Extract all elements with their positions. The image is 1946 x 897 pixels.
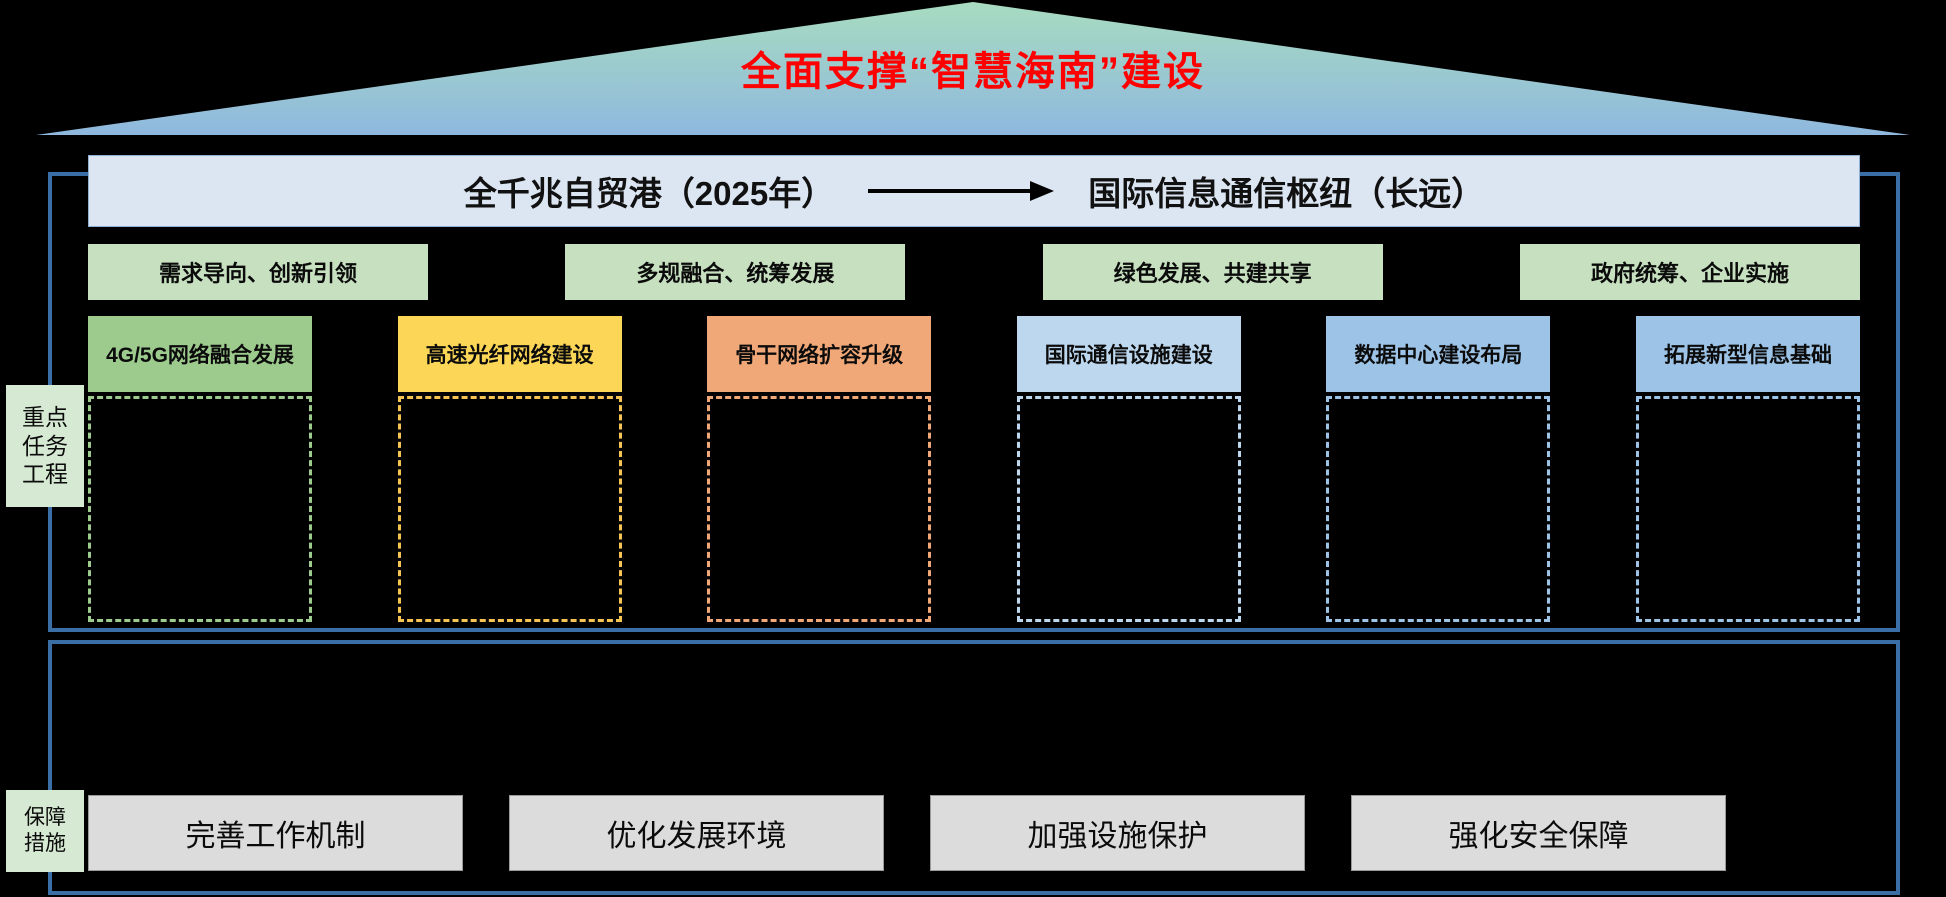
task-header-row: 4G/5G网络融合发展 高速光纤网络建设 骨干网络扩容升级 国际通信设施建设 数… bbox=[88, 316, 1860, 392]
roof-title: 全面支撑“智慧海南”建设 bbox=[0, 52, 1946, 92]
side-label-line: 保障 bbox=[24, 805, 66, 831]
principle-box: 多规融合、统筹发展 bbox=[565, 244, 905, 300]
side-label-line: 工程 bbox=[22, 460, 68, 489]
guarantee-box: 强化安全保障 bbox=[1351, 795, 1726, 871]
task-body-box bbox=[398, 396, 622, 622]
guarantee-box: 优化发展环境 bbox=[509, 795, 884, 871]
guarantee-row: 完善工作机制 优化发展环境 加强设施保护 强化安全保障 bbox=[88, 795, 1900, 871]
task-body-box bbox=[88, 396, 312, 622]
task-header-box: 高速光纤网络建设 bbox=[398, 316, 622, 392]
task-header-box: 国际通信设施建设 bbox=[1017, 316, 1241, 392]
principle-box: 绿色发展、共建共享 bbox=[1043, 244, 1383, 300]
task-body-box bbox=[1326, 396, 1550, 622]
side-label-guarantee: 保障 措施 bbox=[6, 790, 84, 872]
side-label-line: 措施 bbox=[24, 831, 66, 857]
task-header-box: 拓展新型信息基础 bbox=[1636, 316, 1860, 392]
side-label-line: 重点 bbox=[22, 403, 68, 432]
goal-bar: 全千兆自贸港（2025年） 国际信息通信枢纽（长远） bbox=[88, 155, 1860, 227]
long-right-arrow-icon bbox=[868, 180, 1054, 202]
task-body-box bbox=[1017, 396, 1241, 622]
guarantee-box: 加强设施保护 bbox=[930, 795, 1305, 871]
task-header-box: 4G/5G网络融合发展 bbox=[88, 316, 312, 392]
task-header-box: 骨干网络扩容升级 bbox=[707, 316, 931, 392]
side-label-line: 任务 bbox=[22, 432, 68, 461]
task-body-row bbox=[88, 396, 1860, 622]
principle-box: 需求导向、创新引领 bbox=[88, 244, 428, 300]
main-frame-top-right bbox=[1856, 172, 1900, 176]
task-body-box bbox=[707, 396, 931, 622]
principles-row: 需求导向、创新引领 多规融合、统筹发展 绿色发展、共建共享 政府统筹、企业实施 bbox=[88, 244, 1860, 300]
goal-near-term: 全千兆自贸港（2025年） bbox=[464, 167, 834, 215]
task-body-box bbox=[1636, 396, 1860, 622]
principle-box: 政府统筹、企业实施 bbox=[1520, 244, 1860, 300]
task-header-box: 数据中心建设布局 bbox=[1326, 316, 1550, 392]
side-label-key-tasks: 重点 任务 工程 bbox=[6, 385, 84, 507]
diagram-canvas: 全面支撑“智慧海南”建设 全千兆自贸港（2025年） 国际信息通信枢纽（长远） … bbox=[0, 0, 1946, 897]
goal-long-term: 国际信息通信枢纽（长远） bbox=[1088, 167, 1484, 215]
guarantee-box: 完善工作机制 bbox=[88, 795, 463, 871]
main-frame-top-left bbox=[48, 172, 92, 176]
